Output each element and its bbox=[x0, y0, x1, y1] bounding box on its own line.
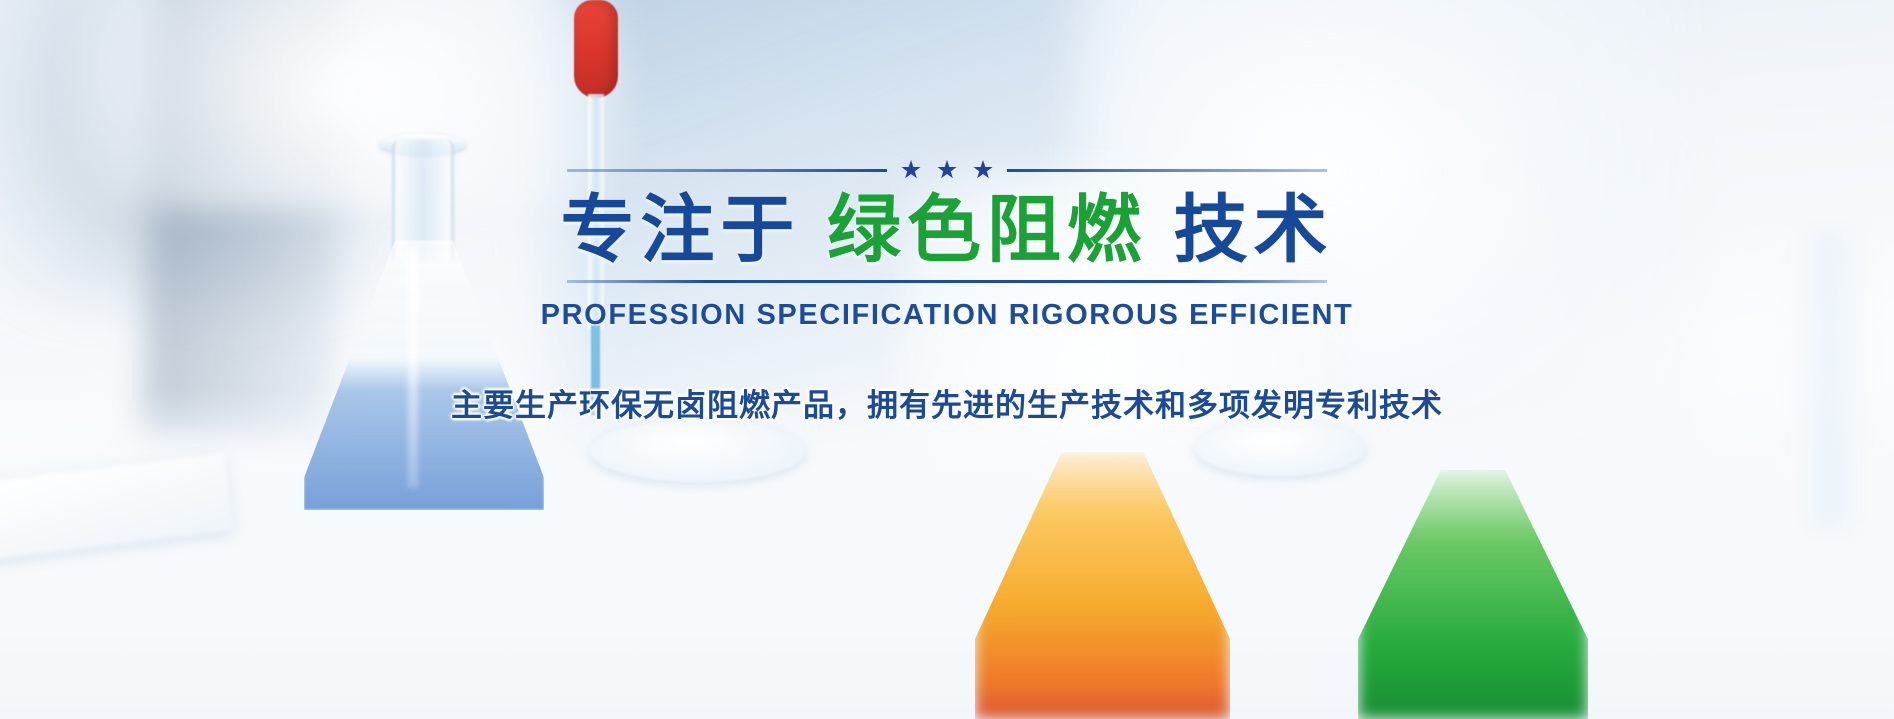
headline-part-3: 技术 bbox=[1174, 188, 1334, 271]
decorative-rule-with-stars bbox=[567, 160, 1327, 180]
star-icon bbox=[937, 160, 957, 180]
star-group bbox=[901, 160, 993, 180]
banner-content: 专注于 绿色阻燃 技术 PROFESSION SPECIFICATION RIG… bbox=[0, 160, 1894, 425]
headline-part-2: 绿色阻燃 bbox=[827, 188, 1147, 271]
page-title: 专注于 绿色阻燃 技术 bbox=[560, 192, 1333, 267]
pipette-bulb bbox=[574, 0, 618, 98]
petri-dish-center bbox=[590, 420, 805, 482]
rule-under-title bbox=[567, 280, 1327, 283]
hero-banner: 专注于 绿色阻燃 技术 PROFESSION SPECIFICATION RIG… bbox=[0, 0, 1894, 719]
background-table-surface bbox=[0, 389, 1894, 719]
star-icon bbox=[973, 160, 993, 180]
petri-dish-right bbox=[1195, 420, 1365, 476]
headline-part-1: 专注于 bbox=[560, 188, 800, 271]
rule-left bbox=[567, 169, 887, 172]
subtitle-english: PROFESSION SPECIFICATION RIGOROUS EFFICI… bbox=[541, 299, 1354, 332]
rule-right bbox=[1007, 169, 1327, 172]
star-icon bbox=[901, 160, 921, 180]
tagline-chinese: 主要生产环保无卤阻燃产品，拥有先进的生产技术和多项发明专利技术 bbox=[451, 380, 1443, 425]
